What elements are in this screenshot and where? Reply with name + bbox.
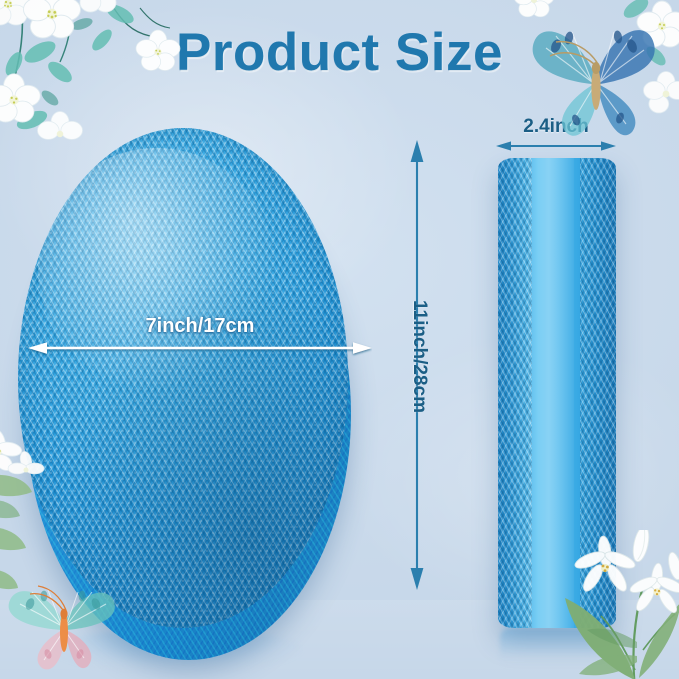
balance-pad-side-view <box>498 158 616 628</box>
dimple-dots-pattern <box>18 128 348 628</box>
balance-pad-side-body <box>498 158 616 628</box>
length-dimension-label: 11inch/28cm <box>404 300 430 413</box>
diamond-texture-right-band <box>580 158 616 628</box>
diamond-texture-pattern <box>18 128 348 628</box>
width-dimension-label: 7inch/17cm <box>30 315 370 338</box>
balance-pad-top-surface <box>18 128 348 628</box>
gloss-highlight-strip <box>528 158 574 628</box>
balance-pad-side-floor-reflection <box>500 628 614 668</box>
page-title: Product Size <box>0 22 679 83</box>
inner-shadow <box>18 128 348 628</box>
double-arrow-horizontal-thickness-icon <box>496 136 616 156</box>
balance-pad-top-view <box>18 128 358 648</box>
diamond-texture-left-band <box>498 158 532 628</box>
double-arrow-horizontal-icon <box>28 336 372 360</box>
thickness-dimension-label: 2.4inch <box>496 116 616 138</box>
product-size-infographic: Product Size 7inch/17cm 1 <box>0 0 679 679</box>
